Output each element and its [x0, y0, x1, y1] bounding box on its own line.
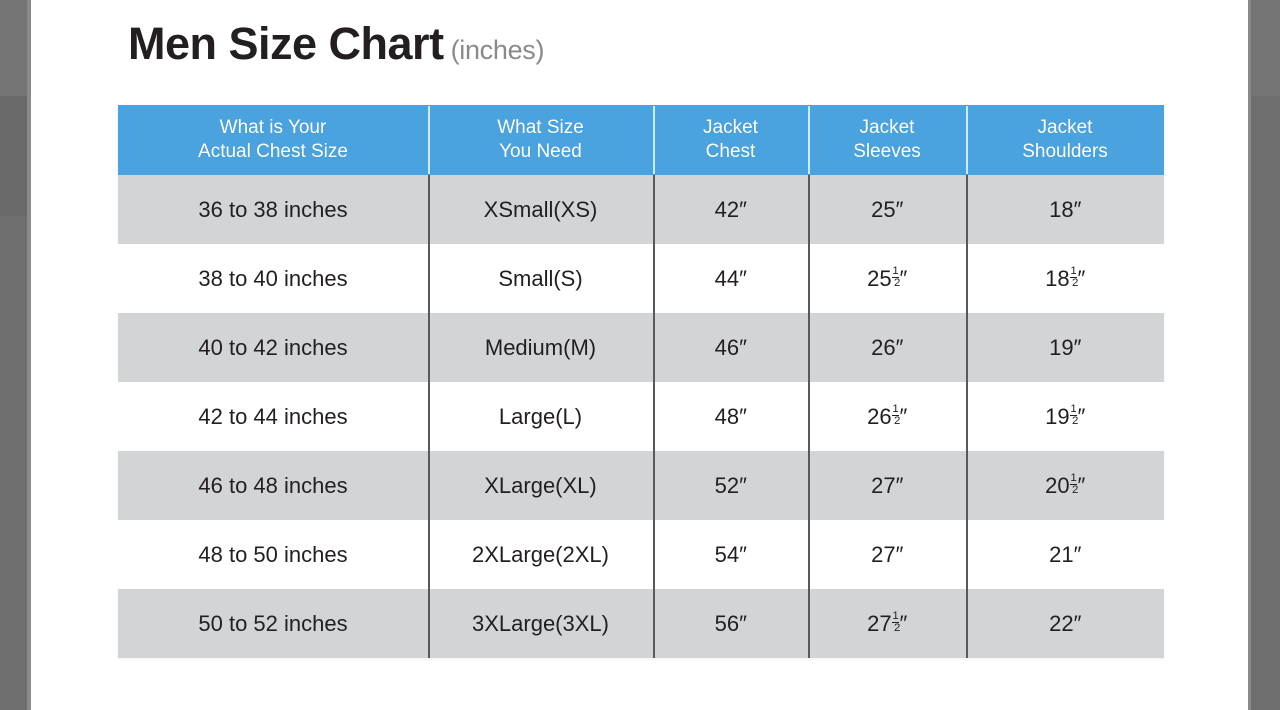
column-header-jacket-shoulders: Jacket Shoulders	[966, 105, 1164, 175]
letterbox-right-segment-bottom	[1248, 96, 1280, 710]
cell-jacket-chest: 52″	[653, 451, 808, 520]
column-header-line1: Jacket	[1038, 116, 1093, 140]
cell-jacket-sleeves: 25″	[808, 175, 966, 244]
cell-actual-chest-size: 46 to 48 inches	[118, 451, 428, 520]
letterbox-right-segment-top	[1248, 0, 1280, 96]
page-title-unit: (inches)	[451, 35, 545, 65]
cell-actual-chest-size: 40 to 42 inches	[118, 313, 428, 382]
cell-size-you-need: 3XLarge(3XL)	[428, 589, 653, 658]
letterbox-right	[1248, 0, 1280, 710]
column-header-line2: Actual Chest Size	[198, 140, 348, 164]
column-header-line1: What is Your	[220, 116, 327, 140]
column-header-line1: What Size	[497, 116, 584, 140]
cell-actual-chest-size: 38 to 40 inches	[118, 244, 428, 313]
table-row: 42 to 44 inchesLarge(L)48″2612″1912″	[118, 382, 1164, 451]
inch-mark: ″	[739, 542, 746, 568]
cell-size-you-need: Medium(M)	[428, 313, 653, 382]
cell-size-you-need: Small(S)	[428, 244, 653, 313]
cell-jacket-sleeves: 2512″	[808, 244, 966, 313]
letterbox-right-edge	[1248, 0, 1251, 710]
cell-jacket-sleeves: 2612″	[808, 382, 966, 451]
cell-jacket-chest: 56″	[653, 589, 808, 658]
cell-jacket-sleeves: 27″	[808, 520, 966, 589]
table-row: 50 to 52 inches3XLarge(3XL)56″2712″22″	[118, 589, 1164, 658]
inch-mark: ″	[1074, 197, 1081, 223]
column-header-size-you-need: What Size You Need	[428, 105, 653, 175]
table-row: 40 to 42 inchesMedium(M)46″26″19″	[118, 313, 1164, 382]
cell-jacket-shoulders: 21″	[966, 520, 1164, 589]
inch-mark: ″	[896, 197, 903, 223]
inch-mark: ″	[739, 197, 746, 223]
letterbox-left-edge	[27, 0, 31, 710]
cell-size-you-need: 2XLarge(2XL)	[428, 520, 653, 589]
column-header-jacket-chest: Jacket Chest	[653, 105, 808, 175]
cell-jacket-chest: 42″	[653, 175, 808, 244]
cell-actual-chest-size: 36 to 38 inches	[118, 175, 428, 244]
inch-mark: ″	[896, 335, 903, 361]
table-row: 46 to 48 inchesXLarge(XL)52″27″2012″	[118, 451, 1164, 520]
cell-jacket-shoulders: 1912″	[966, 382, 1164, 451]
table-row: 38 to 40 inchesSmall(S)44″2512″1812″	[118, 244, 1164, 313]
column-header-jacket-sleeves: Jacket Sleeves	[808, 105, 966, 175]
size-chart-table: What is Your Actual Chest Size What Size…	[118, 105, 1164, 658]
cell-actual-chest-size: 50 to 52 inches	[118, 589, 428, 658]
inch-mark: ″	[739, 266, 746, 292]
cell-jacket-sleeves: 2712″	[808, 589, 966, 658]
cell-jacket-shoulders: 22″	[966, 589, 1164, 658]
cell-jacket-chest: 46″	[653, 313, 808, 382]
cell-jacket-shoulders: 19″	[966, 313, 1164, 382]
cell-size-you-need: XSmall(XS)	[428, 175, 653, 244]
inch-mark: ″	[739, 404, 746, 430]
inch-mark: ″	[1074, 335, 1081, 361]
table-row: 36 to 38 inchesXSmall(XS)42″25″18″	[118, 175, 1164, 244]
inch-mark: ″	[1074, 542, 1081, 568]
cell-jacket-sleeves: 27″	[808, 451, 966, 520]
page-title: Men Size Chart(inches)	[128, 18, 544, 70]
content-page: Men Size Chart(inches) What is Your Actu…	[31, 0, 1248, 710]
cell-actual-chest-size: 48 to 50 inches	[118, 520, 428, 589]
inch-mark: ″	[739, 473, 746, 499]
cell-jacket-chest: 44″	[653, 244, 808, 313]
inch-mark: ″	[1074, 611, 1081, 637]
page-title-main: Men Size Chart	[128, 18, 444, 69]
column-header-actual-chest-size: What is Your Actual Chest Size	[118, 105, 428, 175]
column-header-line2: Shoulders	[1022, 140, 1108, 164]
inch-mark: ″	[896, 542, 903, 568]
cell-jacket-sleeves: 26″	[808, 313, 966, 382]
half-fraction: 12	[1070, 404, 1078, 427]
half-fraction: 12	[892, 266, 900, 289]
cell-jacket-shoulders: 2012″	[966, 451, 1164, 520]
cell-actual-chest-size: 42 to 44 inches	[118, 382, 428, 451]
cell-jacket-shoulders: 18″	[966, 175, 1164, 244]
inch-mark: ″	[739, 611, 746, 637]
table-body: 36 to 38 inchesXSmall(XS)42″25″18″38 to …	[118, 175, 1164, 658]
table-row: 48 to 50 inches2XLarge(2XL)54″27″21″	[118, 520, 1164, 589]
column-header-line1: Jacket	[860, 116, 915, 140]
column-header-line1: Jacket	[703, 116, 758, 140]
inch-mark: ″	[896, 473, 903, 499]
column-header-line2: Chest	[706, 140, 756, 164]
cell-jacket-chest: 54″	[653, 520, 808, 589]
letterbox-left	[0, 0, 31, 710]
cell-size-you-need: Large(L)	[428, 382, 653, 451]
half-fraction: 12	[892, 611, 900, 634]
half-fraction: 12	[1070, 266, 1078, 289]
cell-size-you-need: XLarge(XL)	[428, 451, 653, 520]
table-header-row: What is Your Actual Chest Size What Size…	[118, 105, 1164, 175]
column-header-line2: You Need	[499, 140, 582, 164]
cell-jacket-chest: 48″	[653, 382, 808, 451]
inch-mark: ″	[739, 335, 746, 361]
cell-jacket-shoulders: 1812″	[966, 244, 1164, 313]
half-fraction: 12	[892, 404, 900, 427]
half-fraction: 12	[1070, 473, 1078, 496]
column-header-line2: Sleeves	[853, 140, 921, 164]
